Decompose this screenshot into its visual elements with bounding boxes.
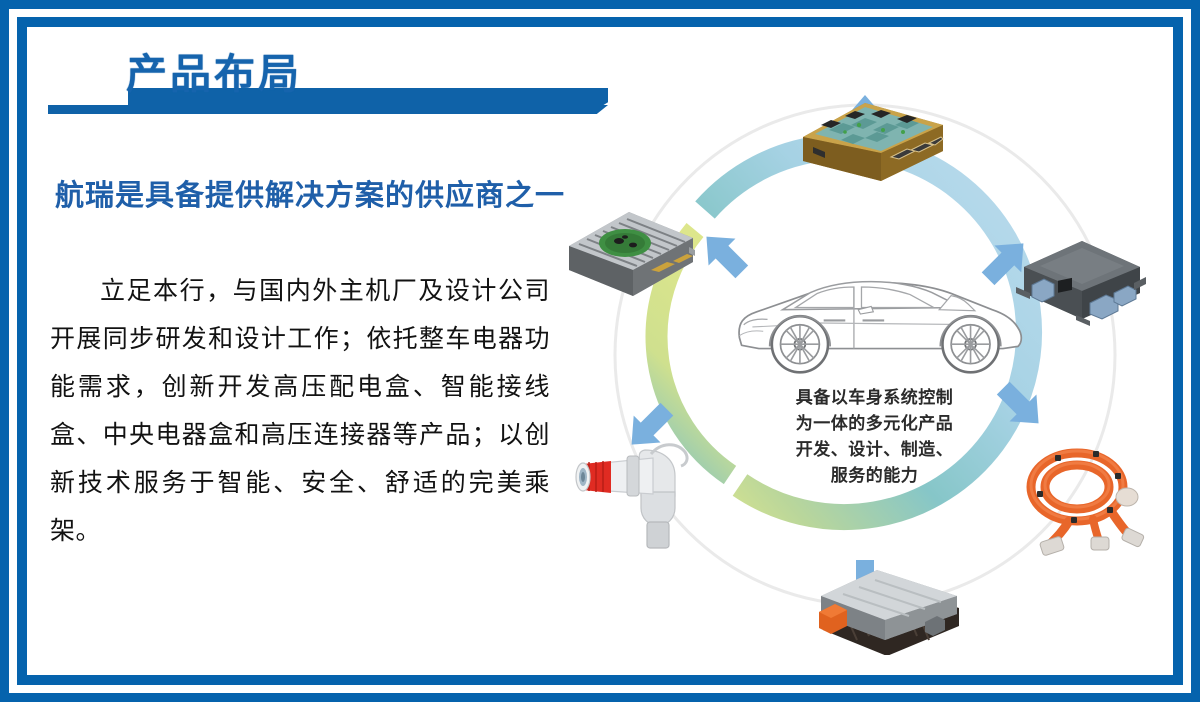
title-underline bbox=[48, 105, 608, 114]
caption-line-2: 为一体的多元化产品 bbox=[767, 411, 982, 437]
caption-line-1: 具备以车身系统控制 bbox=[767, 385, 982, 411]
product-power-distribution-unit bbox=[819, 570, 959, 655]
product-hv-cable-harness bbox=[1031, 451, 1145, 556]
caption-line-3: 开发、设计、制造、 bbox=[767, 437, 982, 463]
page-title-banner: 产品布局 bbox=[48, 58, 608, 120]
caption-line-4: 服务的能力 bbox=[767, 463, 982, 489]
product-hv-connector bbox=[576, 445, 687, 548]
diagram-center-caption: 具备以车身系统控制 为一体的多元化产品 开发、设计、制造、 服务的能力 bbox=[767, 385, 982, 489]
page-title: 产品布局 bbox=[126, 54, 302, 95]
section-subtitle: 航瑞是具备提供解决方案的供应商之一 bbox=[55, 172, 565, 214]
arrow-upper-left-icon bbox=[693, 223, 755, 285]
product-layout-diagram: 具备以车身系统控制 为一体的多元化产品 开发、设计、制造、 服务的能力 bbox=[555, 55, 1175, 655]
diagram-canvas bbox=[555, 55, 1175, 655]
body-paragraph: 立足本行，与国内外主机厂及设计公司开展同步研发和设计工作；依托整车电器功能需求，… bbox=[50, 268, 550, 556]
sedan-car-icon bbox=[739, 282, 1021, 373]
slide-root: 产品布局 航瑞是具备提供解决方案的供应商之一 立足本行，与国内外主机厂及设计公司… bbox=[0, 0, 1200, 702]
